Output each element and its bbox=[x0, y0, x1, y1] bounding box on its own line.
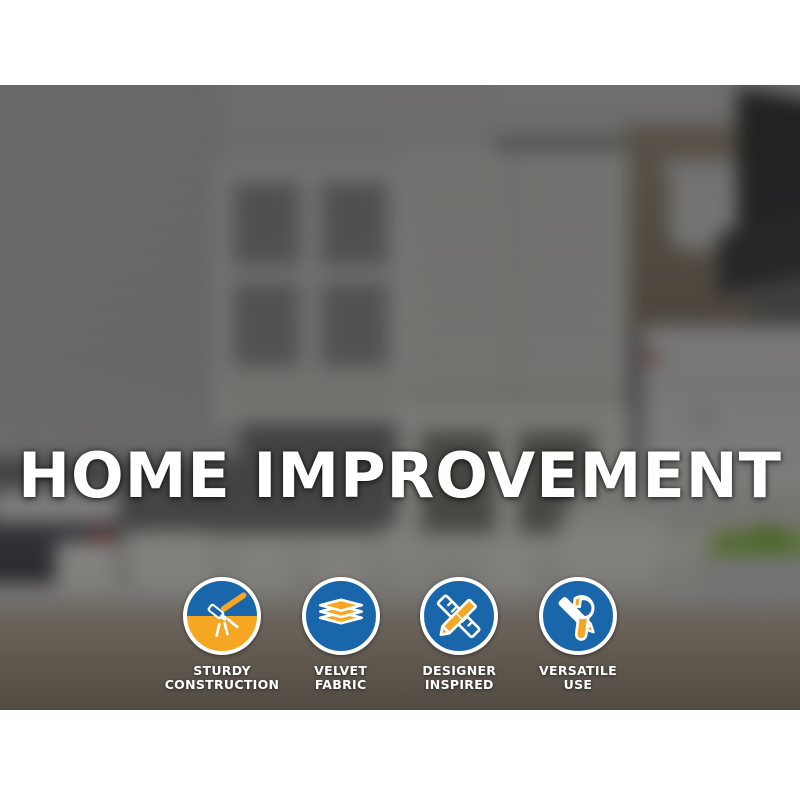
badge-label-line2: USE bbox=[539, 678, 617, 692]
badge-label-line1: VERSATILE bbox=[539, 664, 617, 678]
badge-label: DESIGNER INSPIRED bbox=[422, 664, 496, 691]
page-title: HOME IMPROVEMENT bbox=[0, 439, 800, 512]
badge-label: VELVET FABRIC bbox=[314, 664, 367, 691]
feature-badge-sturdy-construction: STURDY CONSTRUCTION bbox=[170, 577, 274, 691]
badge-label-line1: VELVET bbox=[314, 664, 367, 678]
feature-badge-row: STURDY CONSTRUCTION VELVET bbox=[170, 577, 630, 702]
feature-badge-velvet-fabric: VELVET FABRIC bbox=[289, 577, 393, 691]
badge-label: STURDY CONSTRUCTION bbox=[165, 664, 280, 691]
badge-label-line1: STURDY bbox=[165, 664, 280, 678]
promo-banner-image: HOME IMPROVEMENT bbox=[0, 0, 800, 800]
fabric-layers-icon bbox=[302, 577, 380, 655]
badge-label-line2: CONSTRUCTION bbox=[165, 678, 280, 692]
paint-roller-icon bbox=[183, 577, 261, 655]
badge-label: VERSATILE USE bbox=[539, 664, 617, 691]
badge-label-line1: DESIGNER bbox=[422, 664, 496, 678]
photo-banner: HOME IMPROVEMENT bbox=[0, 85, 800, 710]
feature-badge-versatile-use: VERSATILE USE bbox=[526, 577, 630, 691]
screwdriver-wrench-icon bbox=[539, 577, 617, 655]
feature-badge-designer-inspired: DESIGNER INSPIRED bbox=[407, 577, 511, 691]
badge-label-line2: INSPIRED bbox=[422, 678, 496, 692]
badge-label-line2: FABRIC bbox=[314, 678, 367, 692]
ruler-pencil-icon bbox=[420, 577, 498, 655]
